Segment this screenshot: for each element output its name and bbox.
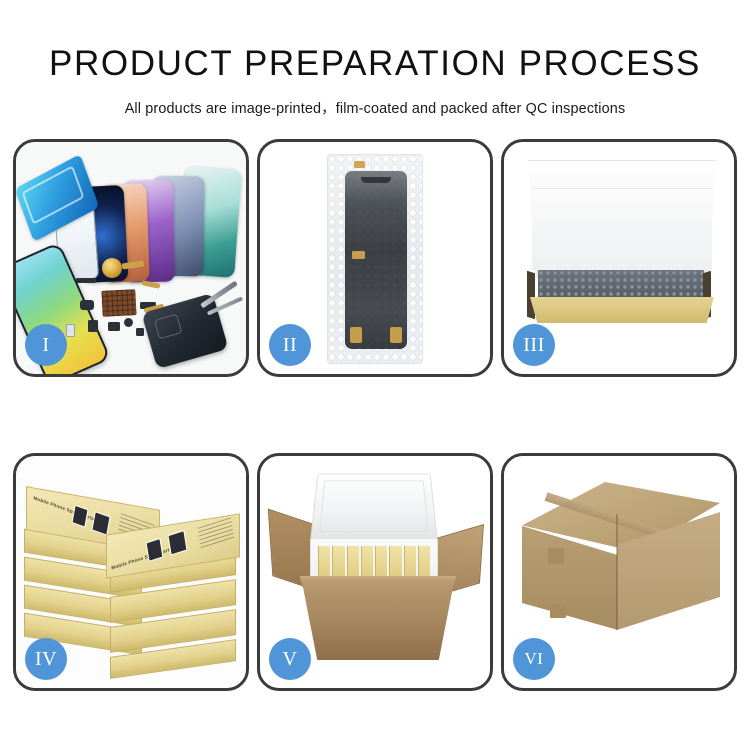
step-5-image: V	[260, 456, 490, 688]
foam-lid-icon	[310, 474, 438, 541]
step-badge-1: I	[25, 324, 67, 366]
step-badge-6: VI	[513, 638, 555, 680]
carton-tab-icon	[550, 604, 566, 618]
carton-seam	[616, 514, 618, 630]
step-badge-5: V	[269, 638, 311, 680]
logic-board-icon	[101, 289, 136, 317]
box-product-photo	[91, 511, 110, 536]
step-badge-3: III	[513, 324, 555, 366]
box-label-text: Mobile Phone Spare Parts	[111, 546, 173, 570]
process-step-2: II	[257, 139, 493, 377]
box-flap-left-icon	[527, 271, 535, 320]
connector-icon	[350, 327, 362, 343]
process-step-1: I	[13, 139, 249, 377]
step-6-image: VI	[504, 456, 734, 688]
step-badge-4: IV	[25, 638, 67, 680]
box-lid-inner-icon	[532, 188, 712, 270]
box-product-photo	[146, 538, 164, 562]
speaker-coil-icon	[102, 258, 122, 278]
page-subtitle: All products are image-printed，film-coat…	[0, 97, 750, 118]
step-2-image: II	[260, 142, 490, 374]
process-step-6: VI	[501, 453, 737, 691]
bubble-wrap-icon	[327, 154, 423, 364]
box-product-photo	[167, 530, 187, 556]
connector-icon	[352, 251, 365, 259]
sim-tray-icon	[66, 324, 75, 337]
carton-tab-icon	[548, 548, 564, 564]
box-spec-lines	[197, 517, 234, 549]
process-step-4: Mobile Phone Spare Parts Mobile Phone Sp…	[13, 453, 249, 691]
process-step-5: V	[257, 453, 493, 691]
carton-body-icon	[302, 582, 454, 660]
product-preparation-infographic: PRODUCT PREPARATION PROCESS All products…	[0, 0, 750, 750]
foam-padding-icon	[538, 270, 704, 300]
header: PRODUCT PREPARATION PROCESS All products…	[0, 0, 750, 118]
box-product-photo	[71, 505, 88, 528]
process-step-3: III	[501, 139, 737, 377]
step-1-image: I	[16, 142, 246, 374]
chip-icon	[76, 278, 96, 283]
connector-icon	[354, 161, 365, 168]
screen-assembly-icon	[345, 171, 407, 349]
step-3-image: III	[504, 142, 734, 374]
connector-icon	[390, 327, 402, 343]
kraft-box-front-icon	[530, 297, 714, 323]
step-badge-2: II	[269, 324, 311, 366]
chip-icon	[80, 300, 94, 310]
chip-icon	[108, 322, 120, 331]
chip-icon	[136, 328, 144, 336]
vibration-motor-icon	[124, 318, 133, 327]
process-step-grid: I II	[13, 139, 737, 691]
chip-icon	[88, 320, 98, 332]
step-4-image: Mobile Phone Spare Parts Mobile Phone Sp…	[16, 456, 246, 688]
page-title: PRODUCT PREPARATION PROCESS	[0, 46, 750, 81]
